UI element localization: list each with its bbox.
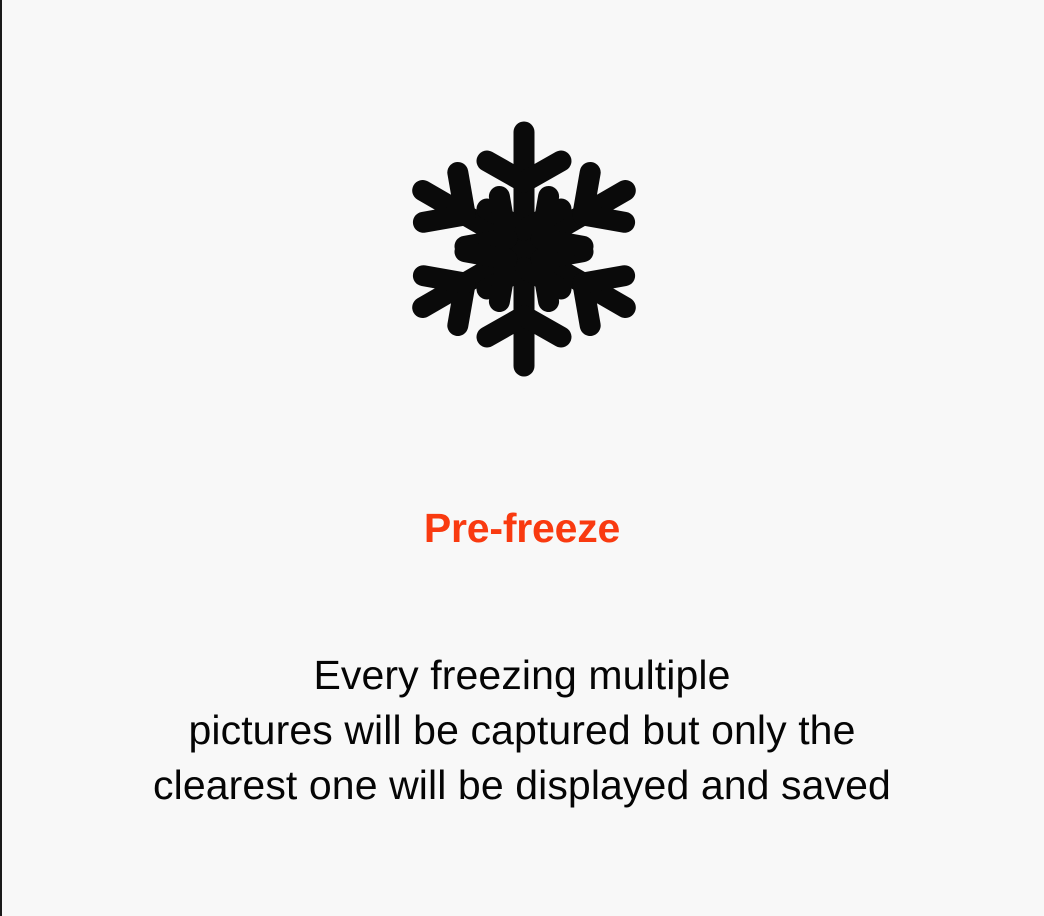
description-line-2: pictures will be captured but only the	[0, 703, 1044, 758]
description-line-3: clearest one will be displayed and saved	[0, 758, 1044, 813]
description-text: Every freezing multiple pictures will be…	[0, 648, 1044, 813]
description-line-1: Every freezing multiple	[0, 648, 1044, 703]
page-title: Pre-freeze	[0, 505, 1044, 552]
snowflake-icon	[410, 118, 638, 380]
pre-freeze-info-panel: Pre-freeze Every freezing multiple pictu…	[0, 0, 1044, 916]
